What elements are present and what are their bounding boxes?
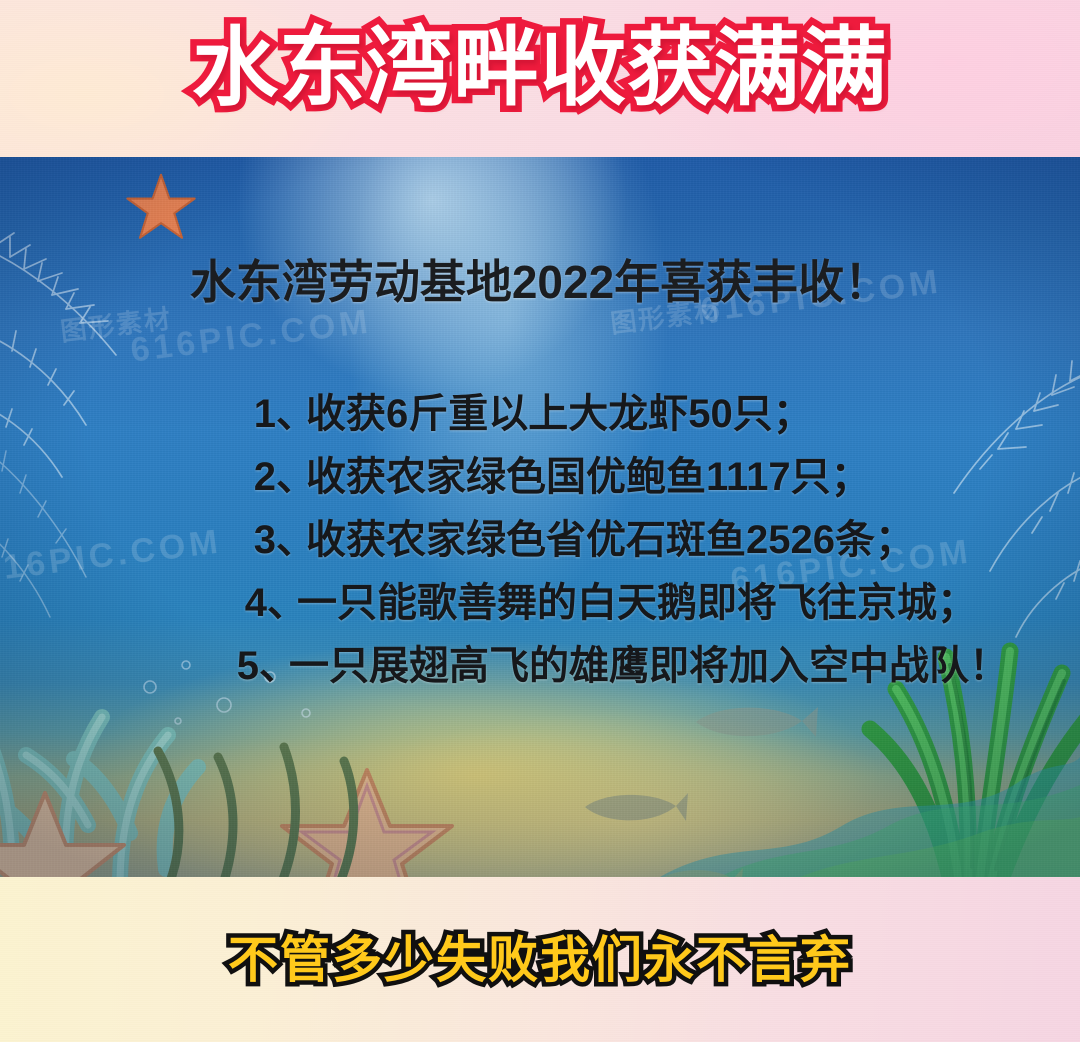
section-heading: 水东湾劳动基地2022年喜获丰收！ [0, 246, 1080, 312]
list-item-separator: 、 [276, 383, 306, 446]
list-item: 3 、 收获农家绿色省优石斑鱼2526条； [0, 509, 1080, 572]
list-item-number: 2 [222, 446, 276, 509]
fish-icon [580, 785, 690, 829]
achievements-list: 1 、 收获6斤重以上大龙虾50只； 2 、 收获农家绿色国优鲍鱼1117只； … [0, 383, 1080, 698]
list-item-separator: 、 [276, 509, 306, 572]
list-item-number: 5 [205, 635, 259, 698]
ocean-illustration: 616PIC.COM 图形素材 616PIC.COM 图形素材 616PIC.C… [0, 157, 1080, 877]
starfish-icon [126, 172, 196, 242]
list-item-text: 收获农家绿色省优石斑鱼2526条； [306, 509, 915, 572]
list-item-text: 收获6斤重以上大龙虾50只； [306, 383, 813, 446]
poster-root: 水东湾畔收获满满 [0, 0, 1080, 1042]
fish-icon [690, 697, 820, 747]
starfish-icon [0, 787, 130, 877]
list-item-text: 一只展翅高飞的雄鹰即将加入空中战队！ [289, 635, 1009, 698]
list-item: 2 、 收获农家绿色国优鲍鱼1117只； [0, 446, 1080, 509]
list-item-number: 1 [222, 383, 276, 446]
list-item-separator: 、 [276, 446, 306, 509]
slogan-text: 不管多少失败我们永不言弃 [0, 920, 1080, 992]
list-item: 1 、 收获6斤重以上大龙虾50只； [0, 383, 1080, 446]
list-item-separator: 、 [259, 635, 289, 698]
list-item-text: 收获农家绿色国优鲍鱼1117只； [306, 446, 871, 509]
list-item-number: 4 [213, 572, 267, 635]
seaweed-icon [148, 717, 378, 877]
list-item-text: 一只能歌善舞的白天鹅即将飞往京城； [297, 572, 977, 635]
page-title: 水东湾畔收获满满 [0, 20, 1080, 116]
list-item-separator: 、 [267, 572, 297, 635]
fish-icon [655, 862, 745, 877]
list-item-number: 3 [222, 509, 276, 572]
list-item: 4 、 一只能歌善舞的白天鹅即将飞往京城； [0, 572, 1080, 635]
list-item: 5 、 一只展翅高飞的雄鹰即将加入空中战队！ [0, 635, 1080, 698]
